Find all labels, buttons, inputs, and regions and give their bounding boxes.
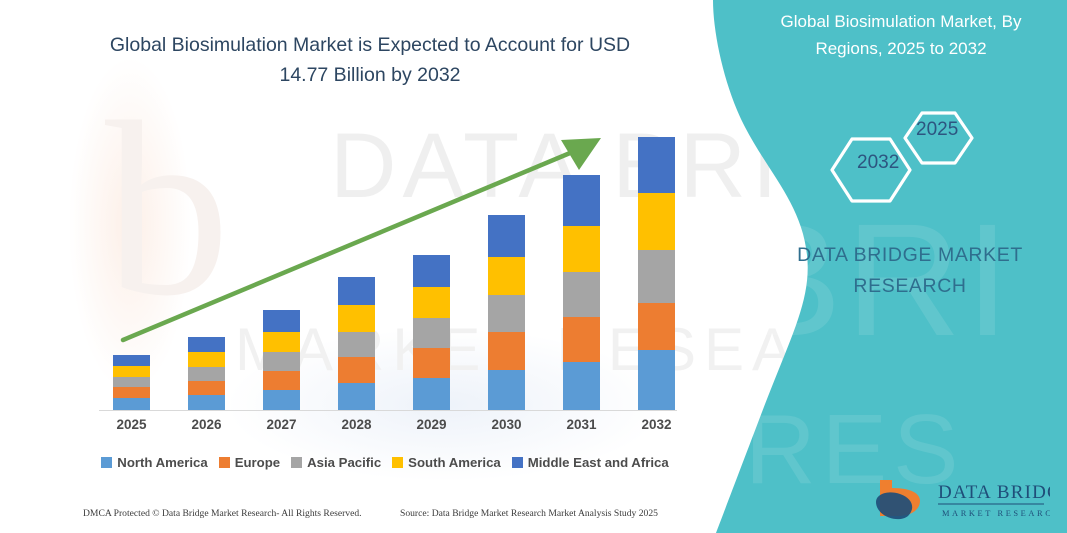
bar-segment-asia-pacific — [563, 272, 600, 317]
bar-segment-north-america — [188, 395, 225, 410]
bar-segment-middle-east-and-africa — [338, 277, 375, 305]
legend-swatch-icon — [512, 457, 523, 468]
x-axis-label-2030: 2030 — [488, 417, 525, 432]
bar-2029 — [413, 255, 450, 410]
legend-swatch-icon — [219, 457, 230, 468]
bar-2028 — [338, 277, 375, 410]
bar-segment-europe — [338, 357, 375, 383]
bar-segment-europe — [188, 381, 225, 395]
bar-2027 — [263, 310, 300, 410]
x-axis-label-2027: 2027 — [263, 417, 300, 432]
bar-segment-south-america — [638, 193, 675, 250]
x-axis-label-2026: 2026 — [188, 417, 225, 432]
bar-segment-middle-east-and-africa — [563, 175, 600, 226]
bar-2025 — [113, 355, 150, 410]
bar-segment-europe — [413, 348, 450, 378]
panel-title: Global Biosimulation Market, By Regions,… — [745, 8, 1057, 62]
bar-2032 — [638, 137, 675, 410]
bar-segment-asia-pacific — [638, 250, 675, 303]
bar-2030 — [488, 215, 525, 410]
hexagon-2032-label: 2032 — [857, 152, 899, 174]
footer: DMCA Protected © Data Bridge Market Rese… — [0, 508, 705, 530]
x-axis-label-2025: 2025 — [113, 417, 150, 432]
legend-item-middle-east-and-africa[interactable]: Middle East and Africa — [512, 455, 669, 470]
bar-segment-asia-pacific — [413, 318, 450, 348]
x-axis-label-2031: 2031 — [563, 417, 600, 432]
bar-2026 — [188, 337, 225, 410]
legend-label: Europe — [235, 455, 280, 470]
hexagon-2025-label: 2025 — [916, 119, 958, 141]
bar-segment-europe — [638, 303, 675, 350]
bar-segment-asia-pacific — [263, 352, 300, 371]
bar-2031 — [563, 175, 600, 410]
bar-segment-middle-east-and-africa — [413, 255, 450, 287]
footer-source: Source: Data Bridge Market Research Mark… — [400, 508, 658, 519]
x-axis-labels: 20252026202720282029203020312032 — [85, 417, 685, 441]
bar-segment-north-america — [338, 383, 375, 410]
legend-swatch-icon — [291, 457, 302, 468]
bar-segment-north-america — [488, 370, 525, 410]
x-axis-label-2029: 2029 — [413, 417, 450, 432]
bar-segment-middle-east-and-africa — [263, 310, 300, 332]
bar-segment-middle-east-and-africa — [638, 137, 675, 193]
logo-tagline: MARKET RESEARCH — [942, 509, 1050, 518]
bar-segment-south-america — [263, 332, 300, 352]
logo-bridge-mark — [876, 480, 920, 519]
infographic-canvas: b DATA BRIDGE MARKET RESEARCH BRI RES Gl… — [0, 0, 1067, 533]
bar-segment-asia-pacific — [338, 332, 375, 357]
bar-segment-south-america — [113, 366, 150, 377]
legend-label: Asia Pacific — [307, 455, 381, 470]
x-axis-line — [99, 410, 677, 411]
bar-segment-north-america — [263, 390, 300, 410]
hexagon-group: 2032 2025 — [810, 95, 1010, 220]
chart-legend: North AmericaEuropeAsia PacificSouth Ame… — [85, 455, 685, 470]
bar-segment-south-america — [563, 226, 600, 272]
legend-item-south-america[interactable]: South America — [392, 455, 501, 470]
legend-label: North America — [117, 455, 207, 470]
bar-segment-middle-east-and-africa — [113, 355, 150, 366]
page-title: Global Biosimulation Market is Expected … — [95, 30, 645, 90]
bar-segment-south-america — [413, 287, 450, 318]
legend-item-asia-pacific[interactable]: Asia Pacific — [291, 455, 381, 470]
bar-segment-europe — [113, 387, 150, 398]
bar-segment-asia-pacific — [188, 367, 225, 381]
chart-plot-area — [85, 120, 685, 410]
bar-segment-north-america — [113, 398, 150, 410]
bar-segment-europe — [488, 332, 525, 370]
logo-name: DATA BRIDGE — [938, 482, 1050, 503]
footer-copyright: DMCA Protected © Data Bridge Market Rese… — [83, 508, 362, 519]
panel-brand-line1: DATA BRIDGE MARKET — [760, 240, 1060, 271]
panel-brand: DATA BRIDGE MARKET RESEARCH — [760, 240, 1060, 302]
bar-segment-europe — [263, 371, 300, 390]
bar-segment-middle-east-and-africa — [188, 337, 225, 352]
bar-segment-asia-pacific — [113, 377, 150, 387]
x-axis-label-2028: 2028 — [338, 417, 375, 432]
legend-item-north-america[interactable]: North America — [101, 455, 207, 470]
legend-swatch-icon — [101, 457, 112, 468]
bar-segment-north-america — [413, 378, 450, 410]
panel-brand-line2: RESEARCH — [760, 271, 1060, 302]
legend-swatch-icon — [392, 457, 403, 468]
bar-segment-south-america — [338, 305, 375, 332]
data-bridge-logo: DATA BRIDGE MARKET RESEARCH — [872, 476, 1050, 524]
bar-segment-europe — [563, 317, 600, 362]
x-axis-label-2032: 2032 — [638, 417, 675, 432]
bar-segment-asia-pacific — [488, 295, 525, 332]
bar-segment-north-america — [563, 362, 600, 410]
bar-segment-south-america — [488, 257, 525, 295]
legend-label: South America — [408, 455, 501, 470]
legend-label: Middle East and Africa — [528, 455, 669, 470]
bar-segment-south-america — [188, 352, 225, 367]
bar-segment-north-america — [638, 350, 675, 410]
stacked-bar-chart: 20252026202720282029203020312032 — [85, 120, 685, 415]
bar-segment-middle-east-and-africa — [488, 215, 525, 257]
bar-group — [85, 120, 685, 410]
legend-item-europe[interactable]: Europe — [219, 455, 280, 470]
